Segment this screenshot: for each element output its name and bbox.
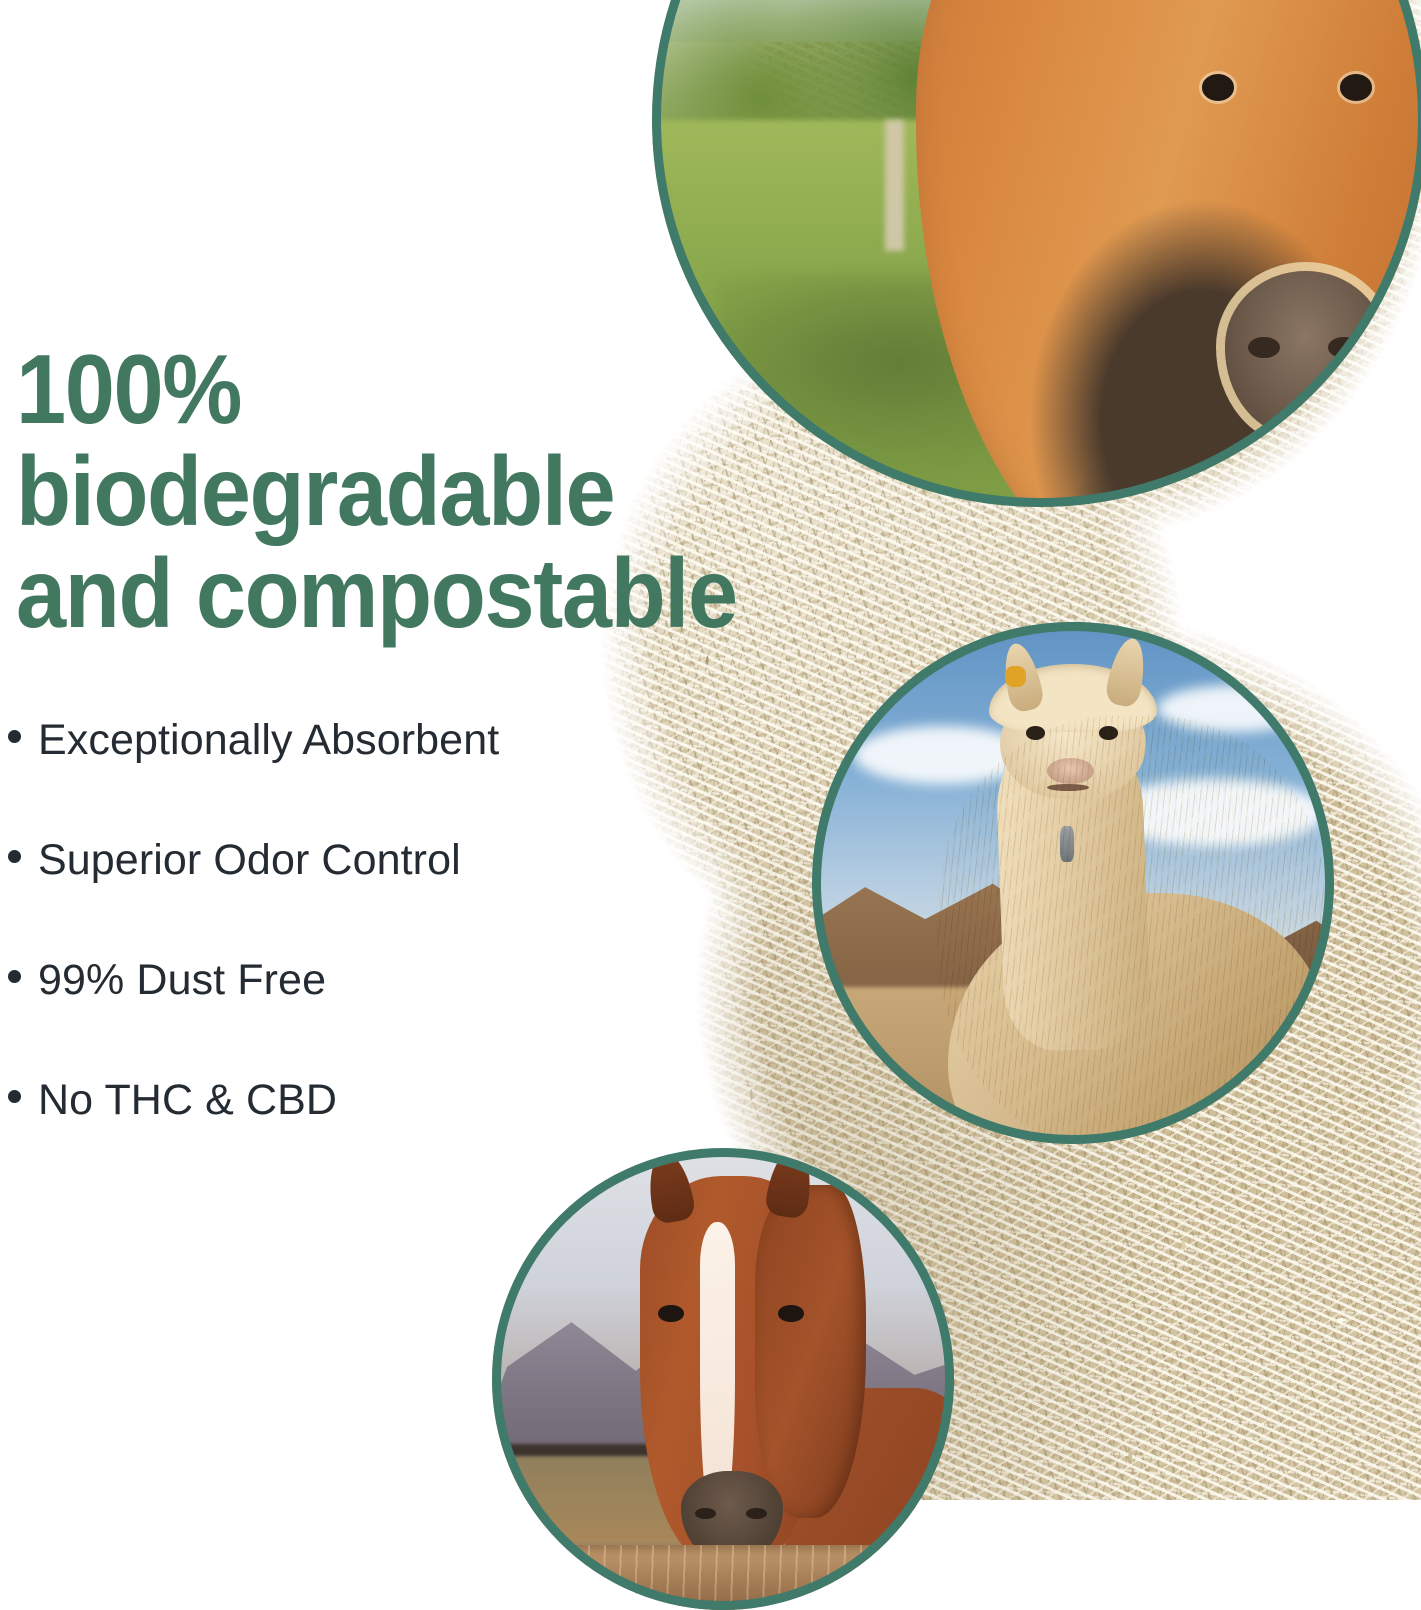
product-feature-banner: 100% biodegradable and compostable Excep… <box>0 0 1421 1500</box>
bullet-dot-icon <box>8 1090 21 1103</box>
alpaca-photo <box>812 622 1334 1144</box>
cow-left-eye <box>1202 74 1234 100</box>
bullet-dot-icon <box>8 850 21 863</box>
cow-right-eye <box>1340 74 1372 100</box>
bullet-dot-icon <box>8 970 21 983</box>
horse-mane <box>755 1185 866 1518</box>
bullet-label: No THC & CBD <box>38 1076 337 1125</box>
bullet-label: Superior Odor Control <box>38 836 461 885</box>
list-item: 99% Dust Free <box>8 956 628 1076</box>
list-item: Exceptionally Absorbent <box>8 716 628 836</box>
horse-right-eye <box>778 1305 803 1322</box>
horse-photo <box>492 1148 954 1610</box>
horse-wooden-fence <box>492 1545 954 1610</box>
cow-fence-post <box>885 120 904 252</box>
page-headline: 100% biodegradable and compostable <box>16 338 844 644</box>
list-item: No THC & CBD <box>8 1076 628 1196</box>
list-item: Superior Odor Control <box>8 836 628 956</box>
bullet-label: 99% Dust Free <box>38 956 326 1005</box>
cow-muzzle <box>1225 271 1386 435</box>
cow-head <box>916 0 1421 507</box>
alpaca-ear-tag <box>1005 666 1026 687</box>
bullet-label: Exceptionally Absorbent <box>38 716 499 765</box>
horse-left-eye <box>658 1305 683 1322</box>
bullet-dot-icon <box>8 730 21 743</box>
feature-bullet-list: Exceptionally Absorbent Superior Odor Co… <box>8 716 628 1196</box>
alpaca-fleece-texture <box>937 716 1323 1144</box>
cow-left-nostril <box>1248 337 1280 358</box>
